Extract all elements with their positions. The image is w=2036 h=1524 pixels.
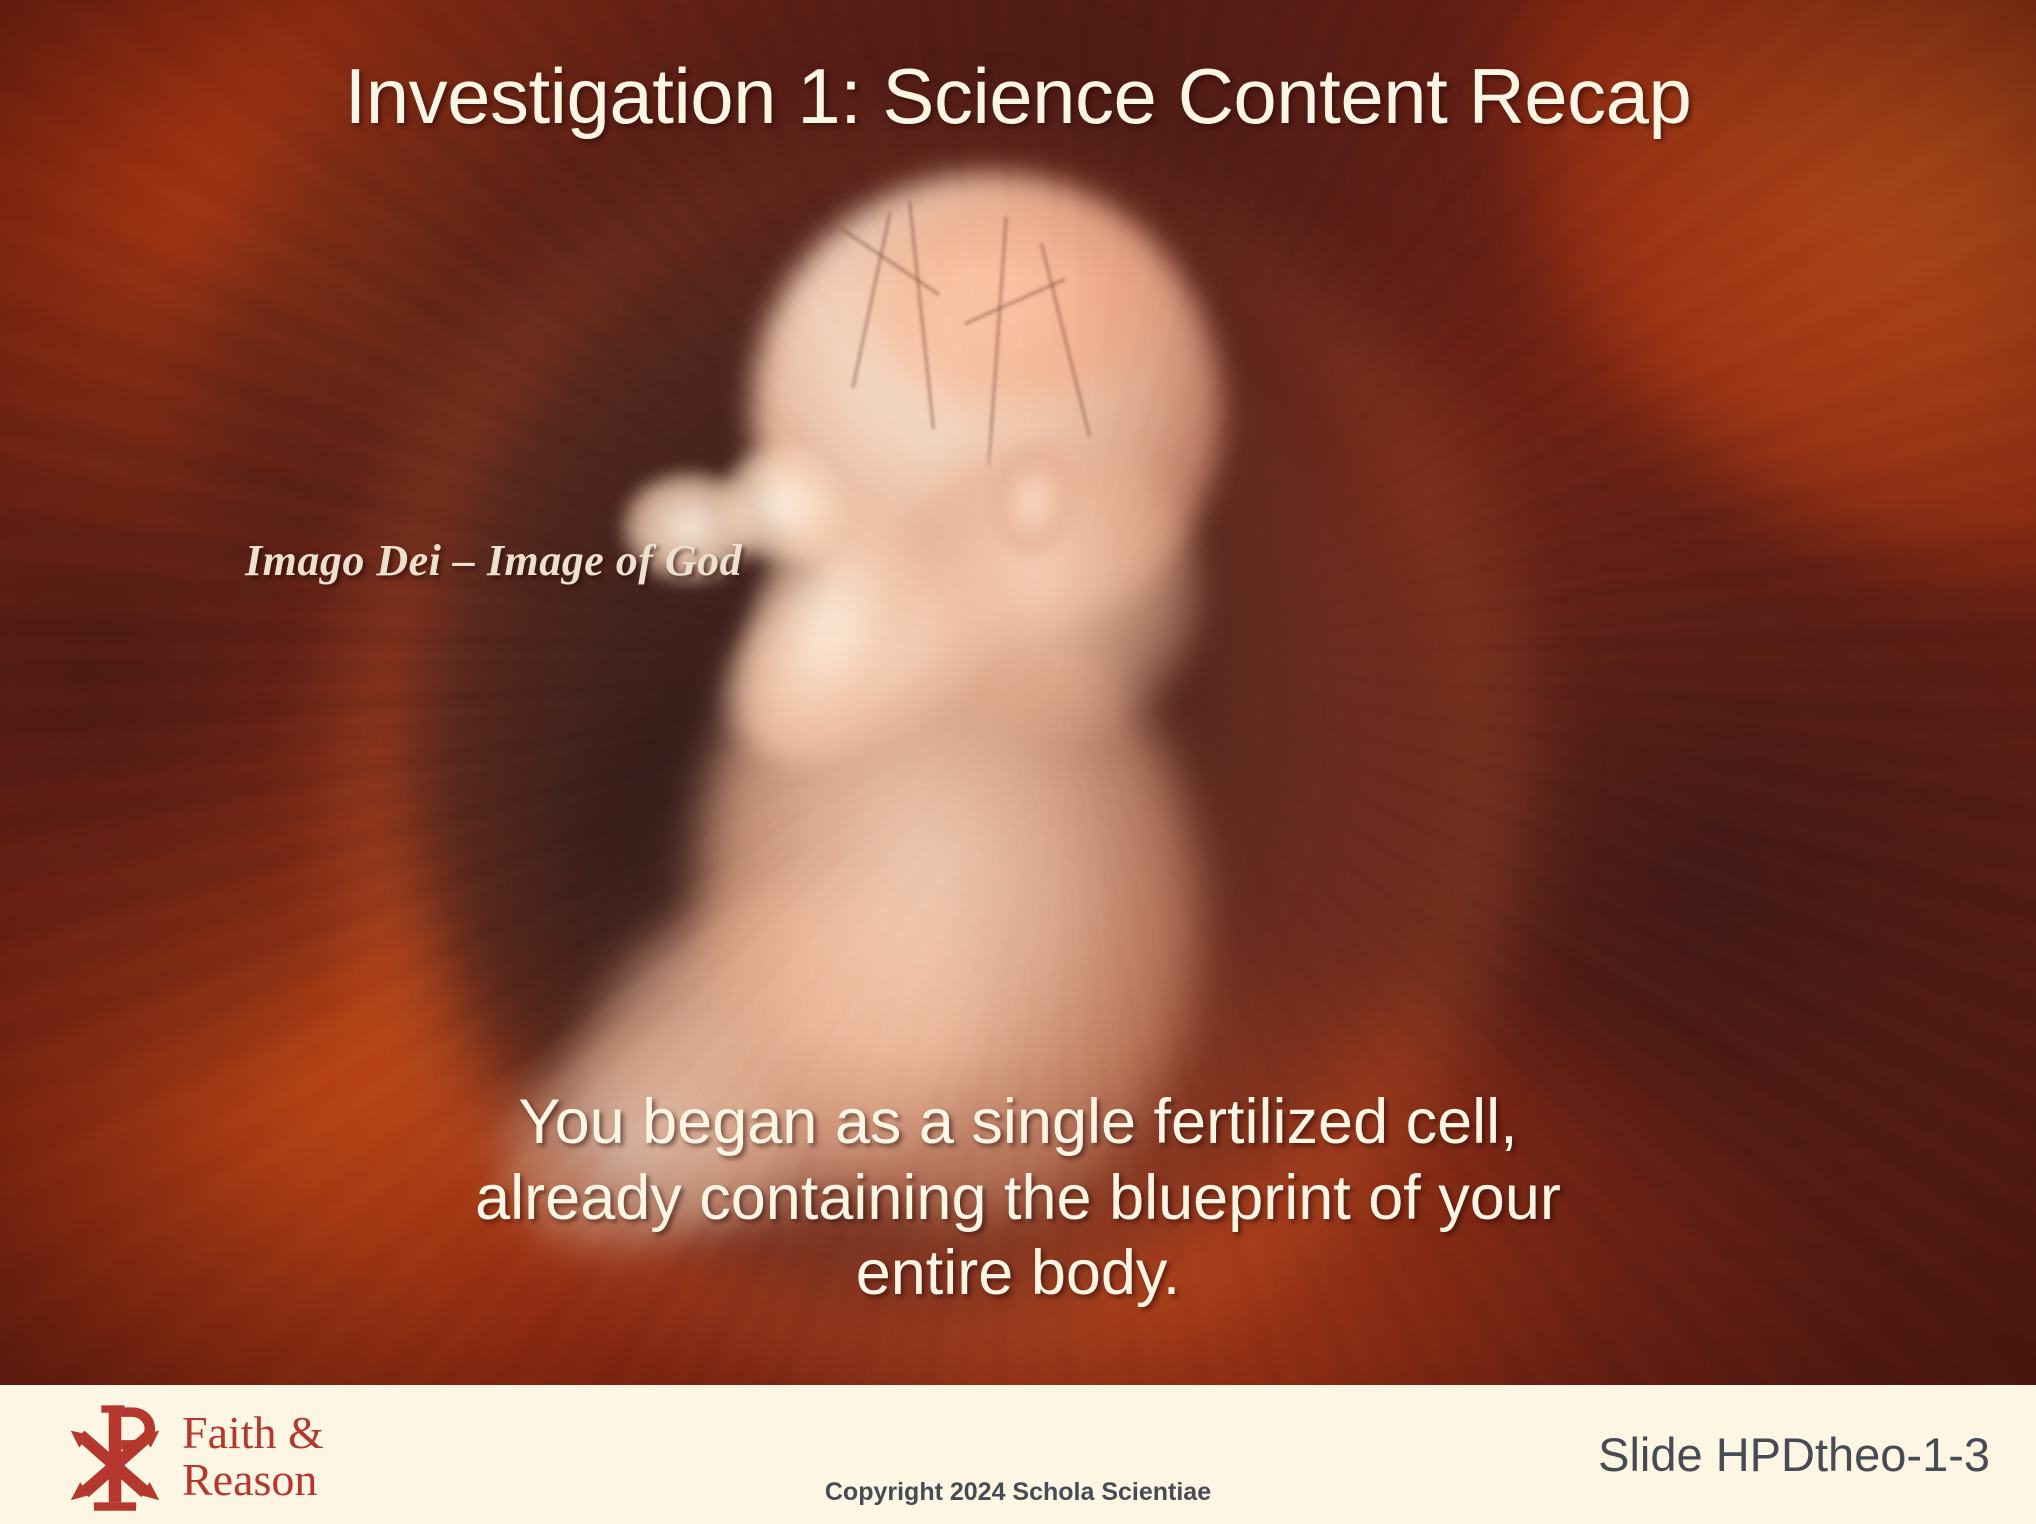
copyright-notice: Copyright 2024 Schola Scientiae	[0, 1478, 2036, 1507]
slide-footer: Faith & Reason Copyright 2024 Schola Sci…	[0, 1385, 2036, 1524]
body-text-line: already containing the blueprint of your	[318, 1161, 1718, 1237]
slide-identifier: Slide HPDtheo-1-3	[1598, 1427, 1990, 1482]
slide: Investigation 1: Science Content Recap I…	[0, 0, 2036, 1524]
body-text-line: You began as a single fertilized cell,	[318, 1085, 1718, 1161]
body-text-line: entire body.	[318, 1236, 1718, 1312]
logo-line-1: Faith &	[182, 1410, 324, 1457]
slide-title: Investigation 1: Science Content Recap	[0, 56, 2036, 138]
slide-body-text: You began as a single fertilized cell, a…	[318, 1085, 1718, 1312]
imago-dei-caption: Imago Dei – Image of God	[245, 535, 742, 586]
